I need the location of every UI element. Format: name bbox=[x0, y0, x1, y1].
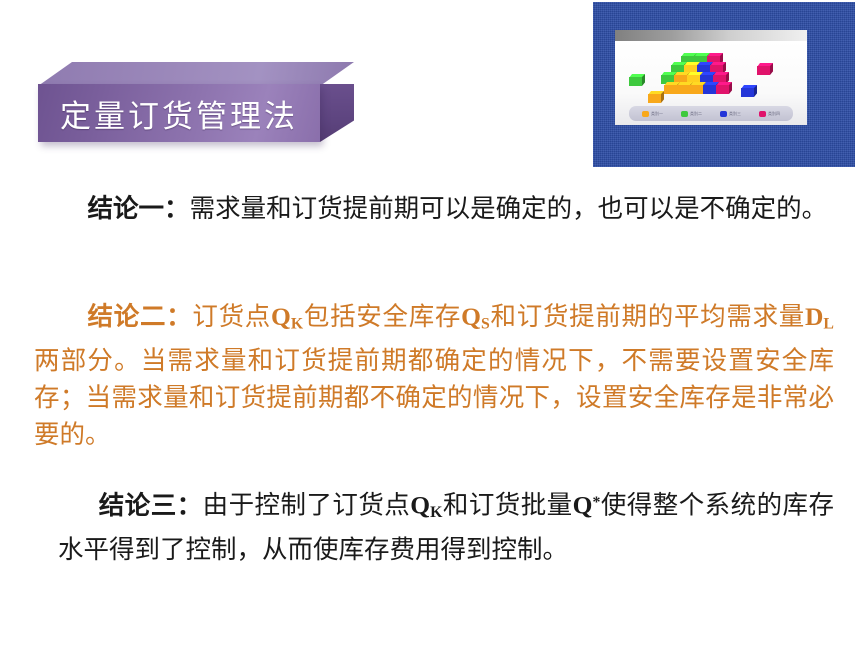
conclusion-three-text-2: 和订货批量 bbox=[442, 491, 572, 520]
legend-label: 类别一 bbox=[651, 111, 663, 117]
conclusion-three-label: 结论三： bbox=[99, 491, 203, 520]
cube-chart-panel-header bbox=[615, 30, 807, 41]
variable-qs: Q bbox=[461, 302, 481, 331]
conclusion-two-text-2: 包括安全库存 bbox=[303, 302, 461, 331]
cube-callout-orange bbox=[648, 91, 664, 103]
conclusion-one-text: 需求量和订货提前期可以是确定的，也可以是不确定的。 bbox=[190, 194, 828, 223]
slide-title-block: 定量订货管理法 bbox=[38, 62, 354, 147]
cube-chart-legend: 类别一 类别二 类别三 类别四 bbox=[629, 106, 793, 121]
page-title: 定量订货管理法 bbox=[60, 91, 298, 136]
legend-label: 类别三 bbox=[729, 111, 741, 117]
legend-item: 类别四 bbox=[759, 111, 780, 117]
conclusion-two-text-1: 订货点 bbox=[192, 302, 271, 331]
variable-dl: D bbox=[805, 302, 823, 331]
title-block-side-face bbox=[320, 84, 354, 142]
slide-canvas: 定量订货管理法 bbox=[0, 0, 866, 649]
variable-qk-subscript: K bbox=[291, 315, 303, 332]
variable-qk-2: Q bbox=[410, 491, 430, 520]
conclusion-three-paragraph: 结论三：由于控制了订货点QK和订货批量Q*使得整个系统的库存水平得到了控制，从而… bbox=[58, 484, 834, 568]
conclusion-two-paragraph: 结论二：订货点QK包括安全库存QS和订货提前期的平均需求量DL两部分。当需求量和… bbox=[34, 298, 834, 453]
legend-marker-blue-icon bbox=[720, 111, 727, 117]
variable-dl-subscript: L bbox=[823, 315, 834, 332]
title-block-front-face: 定量订货管理法 bbox=[38, 84, 320, 142]
cube-magenta-4 bbox=[716, 82, 732, 94]
variable-qs-subscript: S bbox=[481, 315, 490, 332]
legend-item: 类别一 bbox=[642, 111, 663, 117]
conclusion-two-text-3: 和订货提前期的平均需求量 bbox=[490, 302, 805, 331]
legend-marker-green-icon bbox=[681, 111, 688, 117]
legend-item: 类别二 bbox=[681, 111, 702, 117]
cube-callout-magenta bbox=[757, 63, 773, 75]
conclusion-one-label: 结论一： bbox=[88, 194, 190, 223]
variable-q-star: Q bbox=[573, 491, 593, 520]
conclusion-two-text-4: 两部分。当需求量和订货提前期都确定的情况下，不需要设置安全库存；当需求量和订货提… bbox=[34, 346, 834, 449]
legend-label: 类别二 bbox=[690, 111, 702, 117]
cube-chart-panel: 类别一 类别二 类别三 类别四 bbox=[615, 30, 807, 125]
cube-chart-stage: 类别一 类别二 类别三 类别四 bbox=[615, 41, 807, 125]
variable-qk: Q bbox=[271, 302, 291, 331]
title-block-top-face bbox=[38, 62, 354, 86]
legend-marker-orange-icon bbox=[642, 111, 649, 117]
variable-qk-2-subscript: K bbox=[430, 504, 442, 521]
conclusion-three-text-1: 由于控制了订货点 bbox=[203, 491, 411, 520]
cube-chart-image: 类别一 类别二 类别三 类别四 bbox=[593, 2, 855, 167]
conclusion-two-label: 结论二： bbox=[88, 302, 193, 331]
cube-callout-green bbox=[629, 74, 645, 86]
cube-callout-blue bbox=[741, 85, 757, 97]
legend-label: 类别四 bbox=[768, 111, 780, 117]
legend-item: 类别三 bbox=[720, 111, 741, 117]
conclusion-one-paragraph: 结论一：需求量和订货提前期可以是确定的，也可以是不确定的。 bbox=[34, 190, 834, 227]
legend-marker-magenta-icon bbox=[759, 111, 766, 117]
